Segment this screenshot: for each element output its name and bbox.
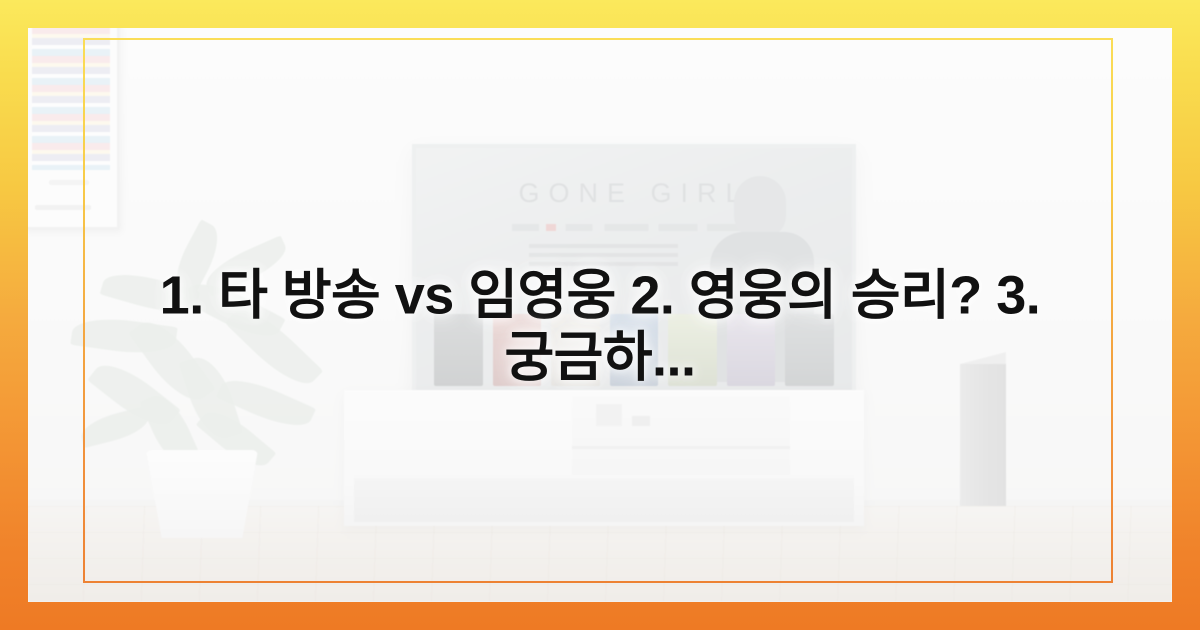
media-console <box>344 390 864 526</box>
plant-leaf <box>78 406 152 448</box>
console-shelf-divider <box>572 446 790 449</box>
artwork-stripes <box>32 28 110 170</box>
artwork-caption <box>35 205 91 210</box>
console-item-box <box>596 404 622 426</box>
content-plate: GONE GIRL <box>28 28 1172 602</box>
framed-striped-artwork <box>28 28 120 230</box>
console-item-small <box>632 416 650 426</box>
silhouette-head <box>734 176 786 238</box>
artwork-signature <box>49 180 89 185</box>
headline-text: 1. 타 방송 vs 임영웅 2. 영웅의 승리? 3. 궁금하... <box>118 265 1082 388</box>
thumbnail-card: GONE GIRL <box>0 0 1200 630</box>
console-plinth <box>354 478 854 522</box>
plant-pot <box>146 450 258 538</box>
